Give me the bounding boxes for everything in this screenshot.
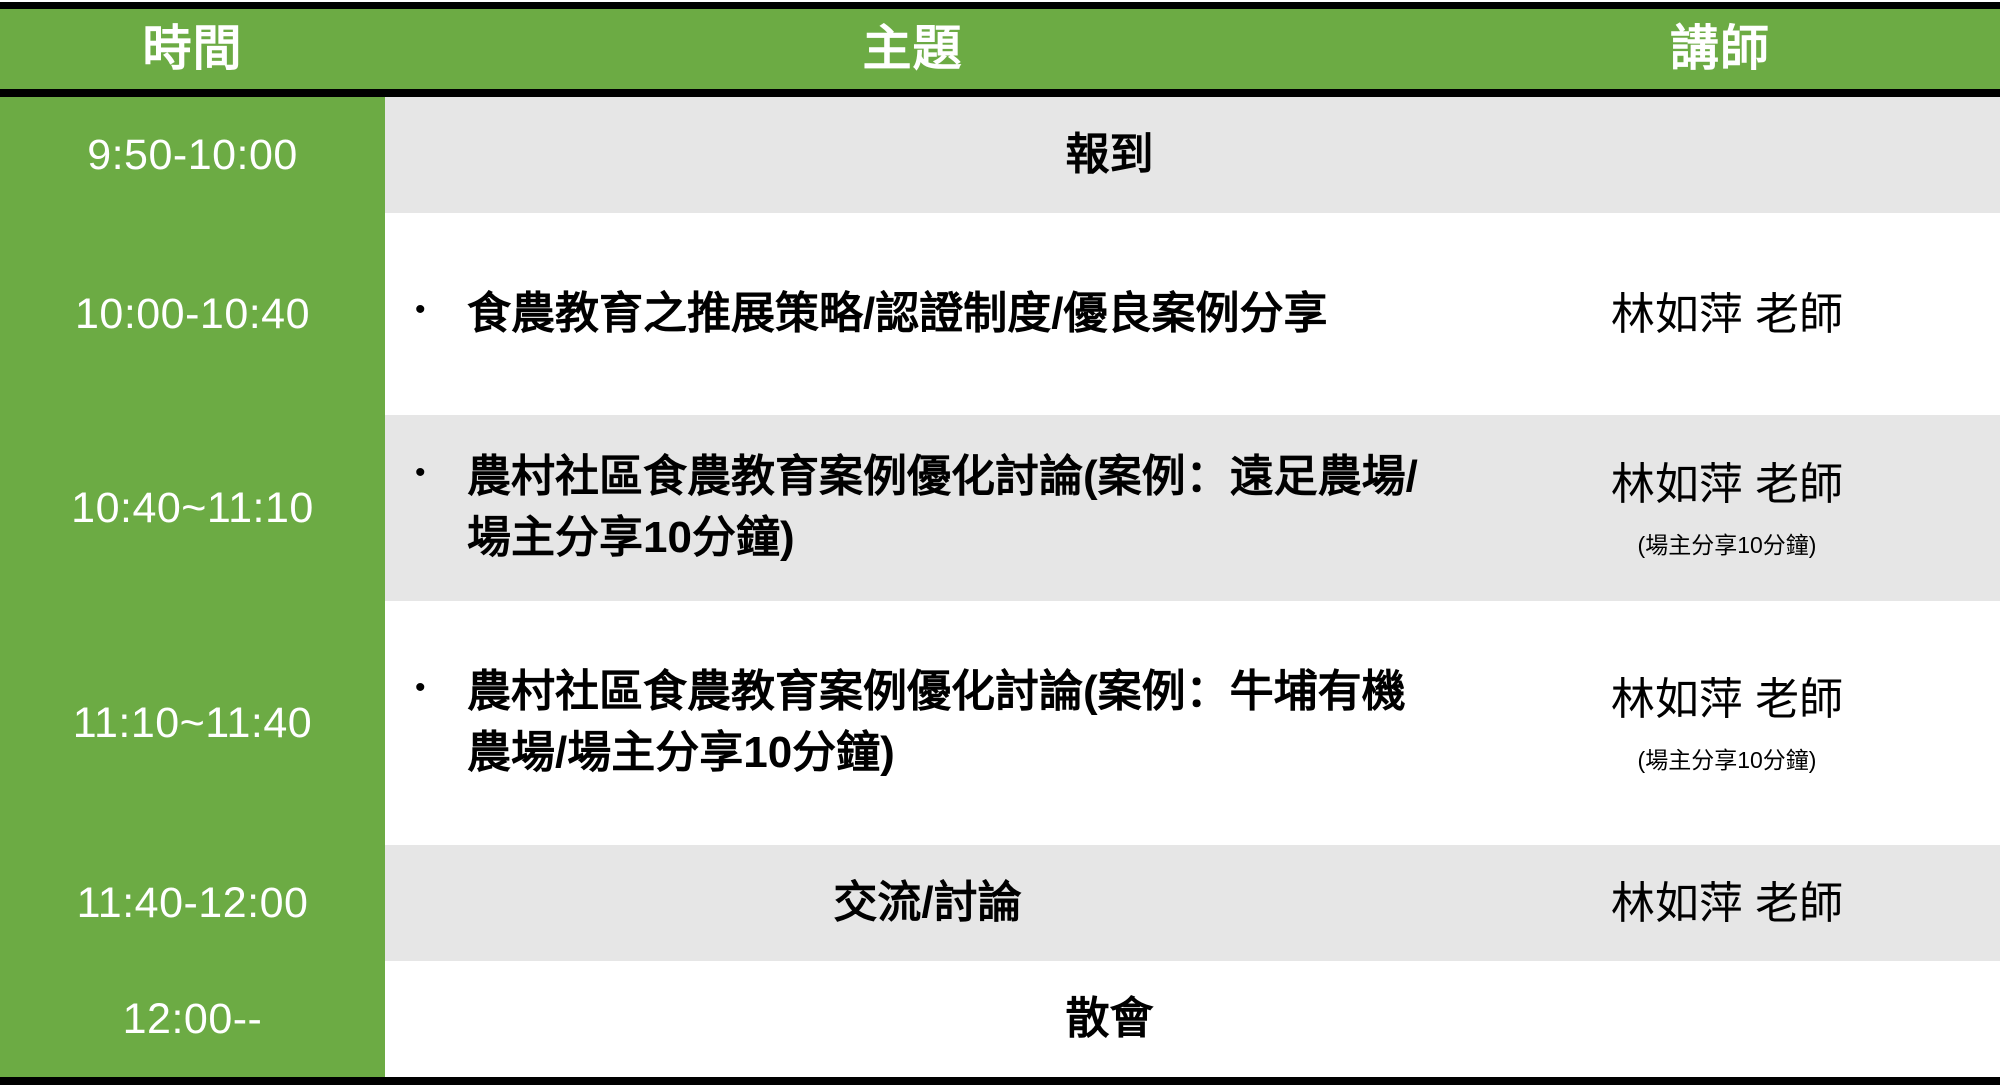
topic-text: 農村社區食農教育案例優化討論(案例：牛埔有機農場/場主分享10分鐘) bbox=[467, 662, 1440, 783]
table-body: 9:50-10:00 報到 10:00-10:40 • 食農教育之推展策略/認證… bbox=[0, 97, 2000, 1077]
cell-topic: 交流/討論 bbox=[399, 845, 1454, 961]
header-bottom-rule bbox=[0, 89, 2000, 97]
table-row: 9:50-10:00 報到 bbox=[0, 97, 2000, 213]
table-row: 12:00-- 散會 bbox=[0, 961, 2000, 1077]
table-row: 10:00-10:40 • 食農教育之推展策略/認證制度/優良案例分享 林如萍 … bbox=[0, 213, 2000, 415]
topic-text: 散會 bbox=[1066, 990, 1154, 1047]
speaker-name: 林如萍 老師 bbox=[1611, 876, 1843, 931]
column-header-speaker: 講師 bbox=[1440, 25, 2000, 74]
cell-topic-merged: 散會 bbox=[399, 961, 2000, 1077]
cell-time: 10:00-10:40 bbox=[0, 213, 385, 415]
table-header-row: 時間 主題 講師 bbox=[0, 9, 2000, 89]
speaker-note: (場主分享10分鐘) bbox=[1638, 526, 1817, 560]
table-row: 11:10~11:40 • 農村社區食農教育案例優化討論(案例：牛埔有機農場/場… bbox=[0, 601, 2000, 845]
column-header-time: 時間 bbox=[0, 25, 385, 74]
speaker-name: 林如萍 老師 bbox=[1611, 672, 1843, 727]
topic-text: 報到 bbox=[1066, 126, 1154, 183]
cell-speaker: 林如萍 老師 (場主分享10分鐘) bbox=[1454, 415, 2000, 601]
speaker-note: (場主分享10分鐘) bbox=[1638, 741, 1817, 775]
cell-topic: • 食農教育之推展策略/認證制度/優良案例分享 bbox=[399, 213, 1454, 415]
topic-text: 交流/討論 bbox=[833, 874, 1021, 931]
bullet-icon: • bbox=[415, 447, 467, 495]
agenda-table: 時間 主題 講師 9:50-10:00 報到 10:00-10:40 • 食農教… bbox=[0, 0, 2000, 1090]
cell-topic-merged: 報到 bbox=[399, 97, 2000, 213]
bullet-icon: • bbox=[415, 284, 467, 332]
table-bottom-rule bbox=[0, 1077, 2000, 1085]
topic-text: 農村社區食農教育案例優化討論(案例：遠足農場/場主分享10分鐘) bbox=[467, 447, 1440, 568]
cell-time: 11:40-12:00 bbox=[0, 845, 385, 961]
cell-speaker: 林如萍 老師 bbox=[1454, 845, 2000, 961]
cell-speaker: 林如萍 老師 bbox=[1454, 213, 2000, 415]
speaker-name: 林如萍 老師 bbox=[1611, 457, 1843, 512]
cell-time: 9:50-10:00 bbox=[0, 97, 385, 213]
cell-time: 11:10~11:40 bbox=[0, 601, 385, 845]
column-header-topic: 主題 bbox=[385, 25, 1440, 74]
bullet-icon: • bbox=[415, 662, 467, 710]
cell-time: 12:00-- bbox=[0, 961, 385, 1077]
topic-text: 食農教育之推展策略/認證制度/優良案例分享 bbox=[467, 284, 1440, 345]
table-row: 11:40-12:00 交流/討論 林如萍 老師 bbox=[0, 845, 2000, 961]
cell-topic: • 農村社區食農教育案例優化討論(案例：遠足農場/場主分享10分鐘) bbox=[399, 415, 1454, 601]
table-row: 10:40~11:10 • 農村社區食農教育案例優化討論(案例：遠足農場/場主分… bbox=[0, 415, 2000, 601]
speaker-name: 林如萍 老師 bbox=[1611, 287, 1843, 342]
cell-topic: • 農村社區食農教育案例優化討論(案例：牛埔有機農場/場主分享10分鐘) bbox=[399, 601, 1454, 845]
cell-time: 10:40~11:10 bbox=[0, 415, 385, 601]
cell-speaker: 林如萍 老師 (場主分享10分鐘) bbox=[1454, 601, 2000, 845]
table-top-rule bbox=[0, 2, 2000, 9]
